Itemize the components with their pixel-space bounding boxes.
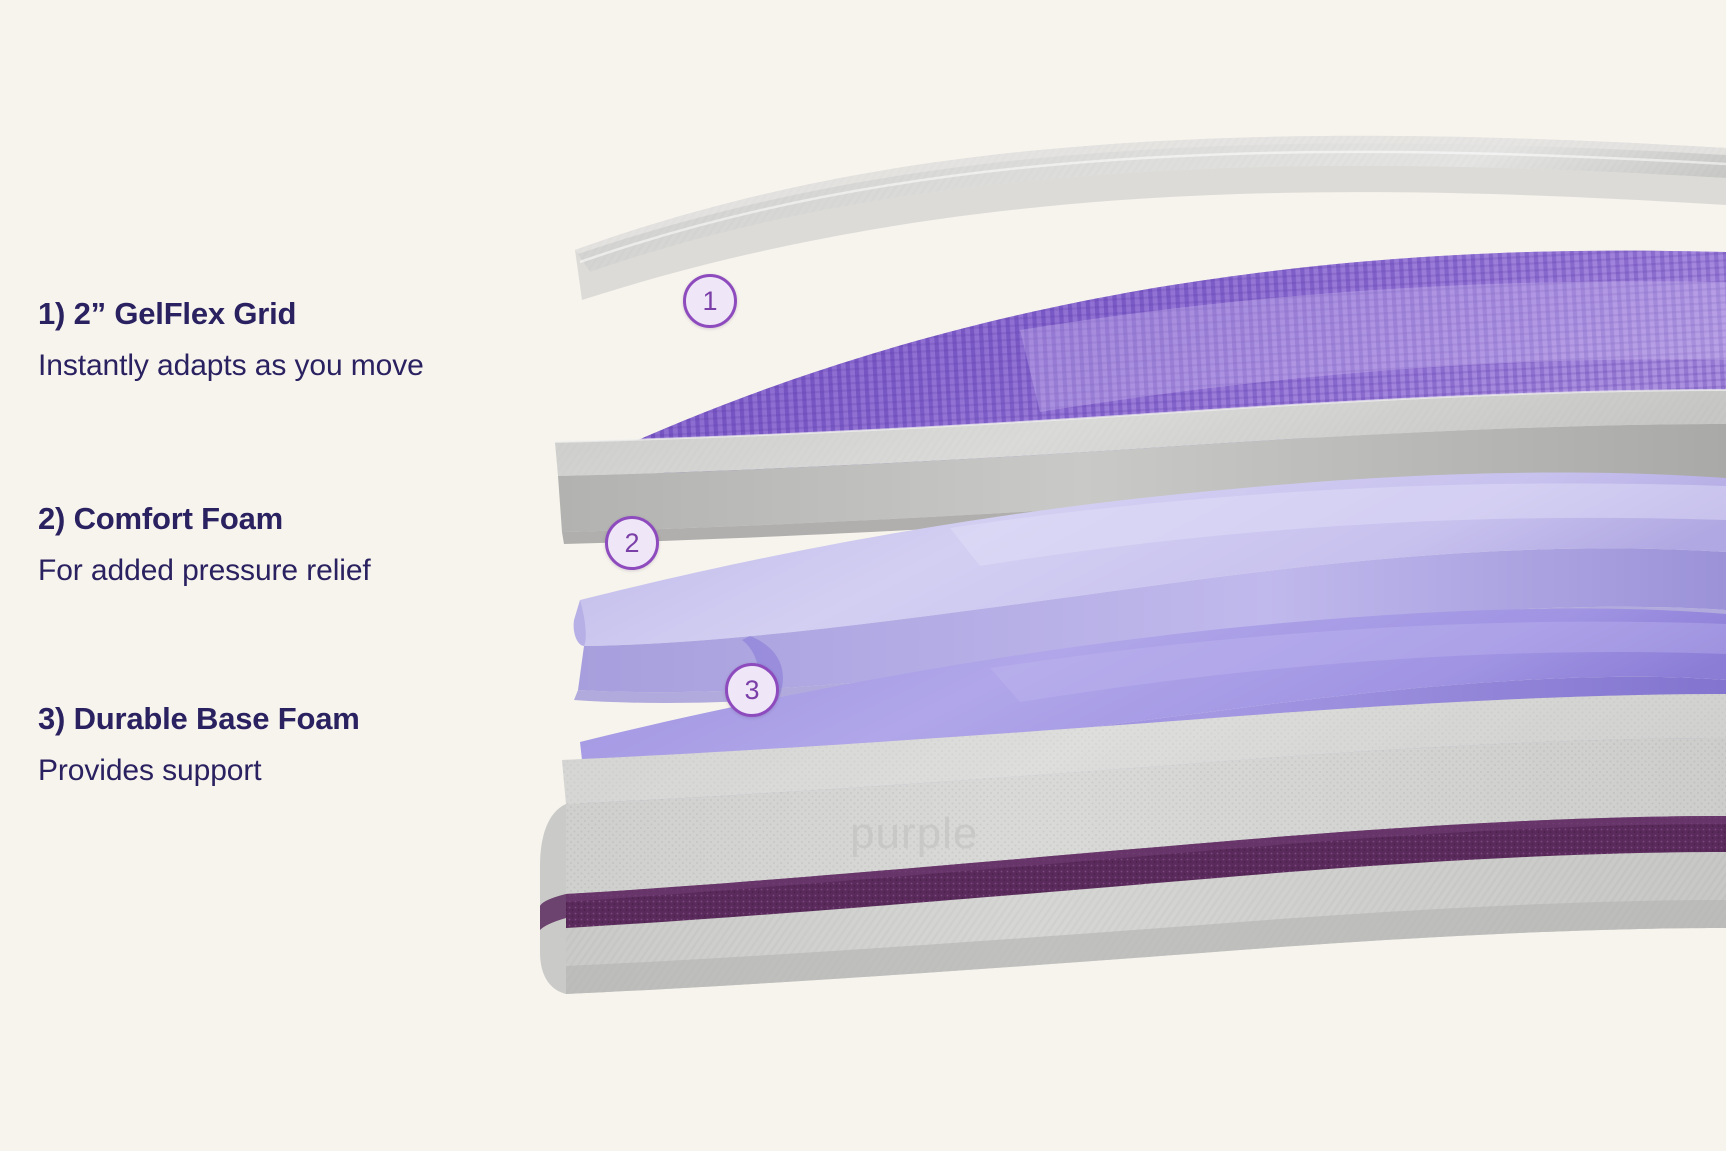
- legend-title: 3) Durable Base Foam: [38, 700, 598, 739]
- legend-item-gelflex-grid: 1) 2” GelFlex Grid Instantly adapts as y…: [38, 295, 598, 385]
- legend-subtitle: Instantly adapts as you move: [38, 346, 598, 385]
- layer-badge-3[interactable]: 3: [725, 663, 779, 717]
- brand-wordmark: purple: [850, 809, 978, 858]
- legend-item-durable-base-foam: 3) Durable Base Foam Provides support: [38, 700, 598, 790]
- layer-legend: 1) 2” GelFlex Grid Instantly adapts as y…: [38, 0, 598, 1151]
- legend-item-comfort-foam: 2) Comfort Foam For added pressure relie…: [38, 500, 598, 590]
- legend-subtitle: For added pressure relief: [38, 551, 598, 590]
- badge-label: 2: [624, 528, 639, 559]
- legend-title: 1) 2” GelFlex Grid: [38, 295, 598, 334]
- legend-subtitle: Provides support: [38, 751, 598, 790]
- badge-label: 3: [744, 675, 759, 706]
- layer-badge-2[interactable]: 2: [605, 516, 659, 570]
- badge-label: 1: [702, 286, 717, 317]
- layer-badge-1[interactable]: 1: [683, 274, 737, 328]
- legend-title: 2) Comfort Foam: [38, 500, 598, 539]
- mattress-exploded-illustration: purple: [520, 0, 1726, 1151]
